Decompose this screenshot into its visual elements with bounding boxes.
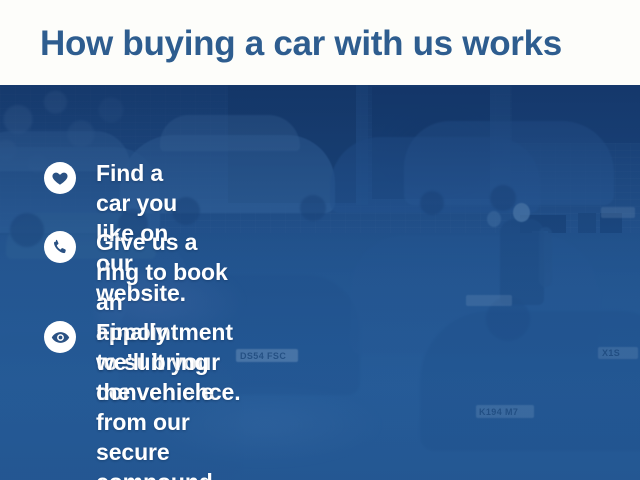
phone-icon [44,231,76,263]
steps-list: Find a car you like on our website. Give… [0,85,640,480]
eye-icon [44,321,76,353]
heart-icon [44,162,76,194]
page-title: How buying a car with us works [40,24,562,64]
header-band: How buying a car with us works [0,0,640,85]
promo-slide: DS54 FSC K194 M7 X1S Find a car you like… [0,0,640,480]
step-text-3: Finally we’ll bring the vehicle from our… [96,317,218,480]
